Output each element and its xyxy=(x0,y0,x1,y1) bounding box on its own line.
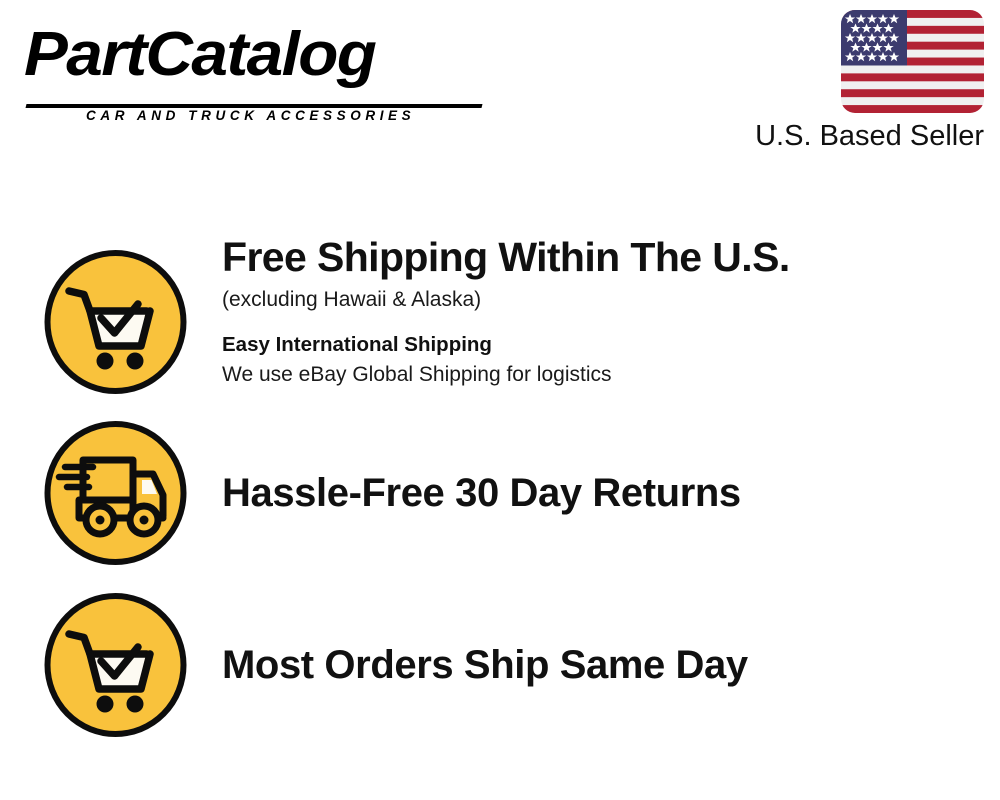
feature-list: Free Shipping Within The U.S. (excluding… xyxy=(0,0,1000,800)
list-item: Free Shipping Within The U.S. (excluding… xyxy=(0,249,1000,395)
feature-secondary-title: Easy International Shipping xyxy=(222,331,990,359)
feature-subtitle: (excluding Hawaii & Alaska) xyxy=(222,285,990,315)
feature-text-block: Most Orders Ship Same Day xyxy=(222,592,990,738)
feature-text-block: Hassle-Free 30 Day Returns xyxy=(222,420,990,566)
feature-text-block: Free Shipping Within The U.S. (excluding… xyxy=(222,233,990,411)
list-item: Most Orders Ship Same Day xyxy=(0,592,1000,738)
list-item: Hassle-Free 30 Day Returns xyxy=(0,420,1000,566)
cart-check-icon xyxy=(43,592,188,738)
feature-title: Most Orders Ship Same Day xyxy=(222,642,748,688)
feature-title: Free Shipping Within The U.S. xyxy=(222,233,990,281)
feature-secondary-note: We use eBay Global Shipping for logistic… xyxy=(222,360,990,390)
feature-title: Hassle-Free 30 Day Returns xyxy=(222,470,741,516)
fast-delivery-truck-icon xyxy=(43,420,188,566)
cart-check-icon xyxy=(43,249,188,395)
